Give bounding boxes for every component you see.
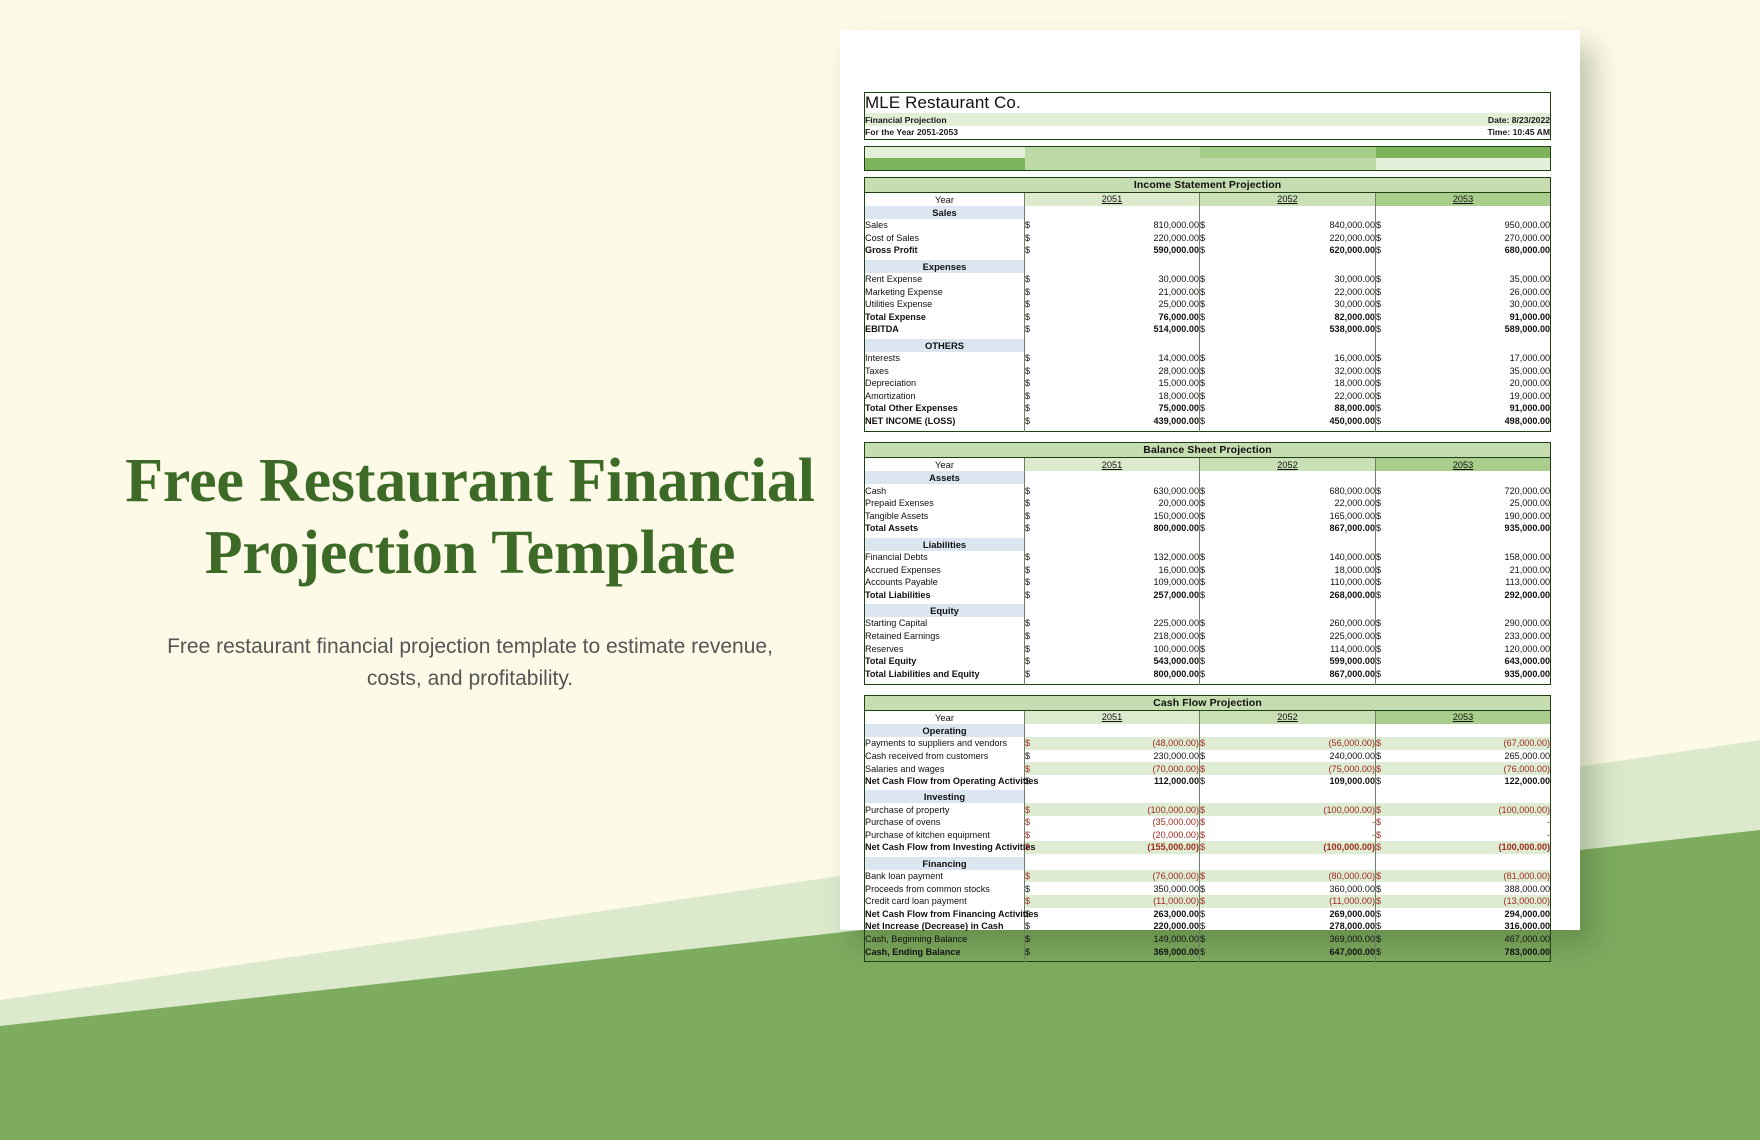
- currency-symbol: $: [1200, 882, 1218, 895]
- currency-symbol: $: [1376, 895, 1394, 908]
- year-header-row: Year205120522053: [865, 710, 1551, 724]
- row-value-2052: 165,000.00: [1218, 510, 1376, 523]
- row-value-2051: 112,000.00: [1043, 775, 1200, 788]
- row-value-2051: 149,000.00: [1043, 933, 1200, 946]
- row-label: Cash, Beginning Balance: [865, 933, 1025, 946]
- row-label: Total Other Expenses: [865, 402, 1025, 415]
- row-label: NET INCOME (LOSS): [865, 415, 1025, 428]
- currency-symbol: $: [1376, 655, 1394, 668]
- row-value-2052: 140,000.00: [1218, 551, 1376, 564]
- table-row: Taxes$28,000.00$32,000.00$35,000.00: [865, 364, 1551, 377]
- group-label-assets: Assets: [865, 471, 1025, 484]
- row-value-2052: 269,000.00: [1218, 908, 1376, 921]
- row-label: Cash: [865, 484, 1025, 497]
- row-value-2053: 21,000.00: [1394, 563, 1551, 576]
- sheet-subtitle-1: Financial Projection: [865, 113, 1200, 126]
- deco-band-row-1: [865, 146, 1551, 158]
- group-label-financing: Financing: [865, 857, 1025, 870]
- table-row: Total Equity$543,000.00$599,000.00$643,0…: [865, 655, 1551, 668]
- row-label: Total Assets: [865, 522, 1025, 535]
- currency-symbol: $: [1200, 273, 1218, 286]
- row-label: Taxes: [865, 364, 1025, 377]
- row-label: Total Liabilities and Equity: [865, 667, 1025, 680]
- currency-symbol: $: [1376, 484, 1394, 497]
- cash-flow-title: Cash Flow Projection: [865, 695, 1551, 710]
- group-band-blank: [1376, 206, 1551, 219]
- currency-symbol: $: [1200, 895, 1218, 908]
- row-label: Purchase of ovens: [865, 816, 1025, 829]
- row-value-2051: 14,000.00: [1043, 352, 1200, 365]
- currency-symbol: $: [1376, 244, 1394, 257]
- currency-symbol: $: [1200, 352, 1218, 365]
- row-value-2051: 810,000.00: [1043, 219, 1200, 232]
- currency-symbol: $: [1200, 762, 1218, 775]
- year-col-2053: 2053: [1376, 710, 1551, 724]
- row-value-2053: 113,000.00: [1394, 576, 1551, 589]
- currency-symbol: $: [1376, 945, 1394, 958]
- year-header-row: Year205120522053: [865, 457, 1551, 471]
- currency-symbol: $: [1376, 364, 1394, 377]
- currency-symbol: $: [1200, 667, 1218, 680]
- currency-symbol: $: [1376, 920, 1394, 933]
- year-col-2051: 2051: [1025, 457, 1200, 471]
- row-value-2051: (11,000.00): [1043, 895, 1200, 908]
- row-value-2053: 91,000.00: [1394, 402, 1551, 415]
- currency-symbol: $: [1200, 285, 1218, 298]
- row-label: Net Cash Flow from Investing Activities: [865, 841, 1025, 854]
- table-row: Salaries and wages$(70,000.00)$(75,000.0…: [865, 762, 1551, 775]
- row-value-2053: 720,000.00: [1394, 484, 1551, 497]
- currency-symbol: $: [1025, 522, 1043, 535]
- currency-symbol: $: [1376, 415, 1394, 428]
- table-row: Prepaid Exenses$20,000.00$22,000.00$25,0…: [865, 497, 1551, 510]
- currency-symbol: $: [1200, 775, 1218, 788]
- row-value-2053: 935,000.00: [1394, 667, 1551, 680]
- row-value-2051: 16,000.00: [1043, 563, 1200, 576]
- deco-cell: [865, 158, 1025, 170]
- table-row: Utilities Expense$25,000.00$30,000.00$30…: [865, 298, 1551, 311]
- currency-symbol: $: [1200, 364, 1218, 377]
- currency-symbol: $: [1025, 364, 1043, 377]
- row-value-2053: 316,000.00: [1394, 920, 1551, 933]
- row-value-2051: 800,000.00: [1043, 667, 1200, 680]
- currency-symbol: $: [1025, 816, 1043, 829]
- currency-symbol: $: [1200, 945, 1218, 958]
- row-value-2051: 369,000.00: [1043, 945, 1200, 958]
- row-value-2052: 110,000.00: [1218, 576, 1376, 589]
- currency-symbol: $: [1376, 273, 1394, 286]
- table-bottom-pad: [865, 680, 1551, 684]
- group-band-blank: [1025, 260, 1200, 273]
- currency-symbol: $: [1376, 377, 1394, 390]
- row-value-2053: (100,000.00): [1394, 841, 1551, 854]
- currency-symbol: $: [1025, 497, 1043, 510]
- row-value-2052: 240,000.00: [1218, 750, 1376, 763]
- table-row: NET INCOME (LOSS)$439,000.00$450,000.00$…: [865, 415, 1551, 428]
- decorative-color-bands: [864, 146, 1551, 171]
- group-label-equity: Equity: [865, 604, 1025, 617]
- group-band-blank: [1025, 604, 1200, 617]
- company-name: MLE Restaurant Co.: [865, 93, 1551, 114]
- currency-symbol: $: [1025, 285, 1043, 298]
- currency-symbol: $: [1376, 576, 1394, 589]
- currency-symbol: $: [1025, 750, 1043, 763]
- row-label: Gross Profit: [865, 244, 1025, 257]
- spacer-cell: [1025, 958, 1200, 962]
- currency-symbol: $: [1376, 298, 1394, 311]
- table-row: Gross Profit$590,000.00$620,000.00$680,0…: [865, 244, 1551, 257]
- currency-symbol: $: [1025, 762, 1043, 775]
- row-value-2053: (81,000.00): [1394, 870, 1551, 883]
- currency-symbol: $: [1200, 551, 1218, 564]
- table-row: Credit card loan payment$(11,000.00)$(11…: [865, 895, 1551, 908]
- currency-symbol: $: [1025, 882, 1043, 895]
- deco-cell: [1376, 158, 1551, 170]
- row-value-2053: 20,000.00: [1394, 377, 1551, 390]
- table-row: Reserves$100,000.00$114,000.00$120,000.0…: [865, 642, 1551, 655]
- row-value-2053: (76,000.00): [1394, 762, 1551, 775]
- row-label: Accounts Payable: [865, 576, 1025, 589]
- table-row: Retained Earnings$218,000.00$225,000.00$…: [865, 630, 1551, 643]
- deco-cell: [1025, 158, 1200, 170]
- group-band-row: Financing: [865, 857, 1551, 870]
- spacer-cell: [1376, 958, 1551, 962]
- table-row: Net Cash Flow from Investing Activities$…: [865, 841, 1551, 854]
- table-row: Bank loan payment$(76,000.00)$(80,000.00…: [865, 870, 1551, 883]
- currency-symbol: $: [1200, 244, 1218, 257]
- group-band-blank: [1200, 538, 1376, 551]
- row-value-2051: (100,000.00): [1043, 803, 1200, 816]
- table-row: Cash, Beginning Balance$149,000.00$369,0…: [865, 933, 1551, 946]
- spreadsheet-paper: MLE Restaurant Co. Financial Projection …: [840, 30, 1580, 930]
- group-band-row: Operating: [865, 724, 1551, 737]
- currency-symbol: $: [1376, 775, 1394, 788]
- row-value-2052: 260,000.00: [1218, 617, 1376, 630]
- group-band-blank: [1376, 260, 1551, 273]
- row-value-2053: 26,000.00: [1394, 285, 1551, 298]
- currency-symbol: $: [1376, 563, 1394, 576]
- group-band-row: Equity: [865, 604, 1551, 617]
- currency-symbol: $: [1025, 415, 1043, 428]
- table-row: Purchase of ovens$(35,000.00)$-$-: [865, 816, 1551, 829]
- row-value-2052: 82,000.00: [1218, 311, 1376, 324]
- group-band-blank: [1200, 857, 1376, 870]
- currency-symbol: $: [1025, 642, 1043, 655]
- row-value-2051: 76,000.00: [1043, 311, 1200, 324]
- row-value-2051: 150,000.00: [1043, 510, 1200, 523]
- row-label: Tangible Assets: [865, 510, 1025, 523]
- row-value-2053: 388,000.00: [1394, 882, 1551, 895]
- currency-symbol: $: [1025, 829, 1043, 842]
- row-value-2051: 21,000.00: [1043, 285, 1200, 298]
- row-value-2052: (11,000.00): [1218, 895, 1376, 908]
- row-value-2051: 109,000.00: [1043, 576, 1200, 589]
- row-label: Accrued Expenses: [865, 563, 1025, 576]
- table-row: Accrued Expenses$16,000.00$18,000.00$21,…: [865, 563, 1551, 576]
- currency-symbol: $: [1200, 415, 1218, 428]
- currency-symbol: $: [1376, 642, 1394, 655]
- row-value-2053: 158,000.00: [1394, 551, 1551, 564]
- row-value-2052: 680,000.00: [1218, 484, 1376, 497]
- balance-sheet-table: Balance Sheet ProjectionYear205120522053…: [864, 442, 1551, 685]
- row-value-2052: 599,000.00: [1218, 655, 1376, 668]
- table-row: Payments to suppliers and vendors$(48,00…: [865, 737, 1551, 750]
- row-value-2053: 35,000.00: [1394, 364, 1551, 377]
- row-value-2052: 278,000.00: [1218, 920, 1376, 933]
- row-value-2051: 220,000.00: [1043, 232, 1200, 245]
- row-value-2051: 257,000.00: [1043, 588, 1200, 601]
- table-row: Purchase of property$(100,000.00)$(100,0…: [865, 803, 1551, 816]
- sheet-time: Time: 10:45 AM: [1200, 126, 1551, 139]
- group-label-expenses: Expenses: [865, 260, 1025, 273]
- group-band-blank: [1200, 604, 1376, 617]
- row-value-2051: (35,000.00): [1043, 816, 1200, 829]
- row-value-2052: 220,000.00: [1218, 232, 1376, 245]
- row-label: Utilities Expense: [865, 298, 1025, 311]
- row-value-2051: 543,000.00: [1043, 655, 1200, 668]
- row-value-2053: 120,000.00: [1394, 642, 1551, 655]
- group-band-blank: [1200, 471, 1376, 484]
- row-value-2053: 643,000.00: [1394, 655, 1551, 668]
- currency-symbol: $: [1025, 219, 1043, 232]
- table-row: EBITDA$514,000.00$538,000.00$589,000.00: [865, 323, 1551, 336]
- row-label: Prepaid Exenses: [865, 497, 1025, 510]
- table-row: Proceeds from common stocks$350,000.00$3…: [865, 882, 1551, 895]
- row-label: Depreciation: [865, 377, 1025, 390]
- currency-symbol: $: [1025, 298, 1043, 311]
- currency-symbol: $: [1200, 563, 1218, 576]
- row-value-2052: 360,000.00: [1218, 882, 1376, 895]
- group-band-blank: [1025, 790, 1200, 803]
- row-value-2053: 190,000.00: [1394, 510, 1551, 523]
- group-band-blank: [1376, 339, 1551, 352]
- table-bottom-pad: [865, 958, 1551, 962]
- currency-symbol: $: [1376, 510, 1394, 523]
- year-col-2051: 2051: [1025, 710, 1200, 724]
- cash-flow-table: Cash Flow ProjectionYear205120522053Oper…: [864, 695, 1551, 963]
- spacer-cell: [1376, 427, 1551, 431]
- currency-symbol: $: [1376, 497, 1394, 510]
- currency-symbol: $: [1200, 920, 1218, 933]
- row-value-2051: (20,000.00): [1043, 829, 1200, 842]
- currency-symbol: $: [1025, 895, 1043, 908]
- year-col-2052: 2052: [1200, 457, 1376, 471]
- row-label: Starting Capital: [865, 617, 1025, 630]
- group-band-blank: [1025, 724, 1200, 737]
- row-value-2052: 88,000.00: [1218, 402, 1376, 415]
- currency-symbol: $: [1200, 617, 1218, 630]
- year-col-2053: 2053: [1376, 457, 1551, 471]
- table-row: Net Increase (Decrease) in Cash$220,000.…: [865, 920, 1551, 933]
- row-value-2053: 294,000.00: [1394, 908, 1551, 921]
- row-value-2053: 19,000.00: [1394, 390, 1551, 403]
- currency-symbol: $: [1376, 750, 1394, 763]
- row-value-2051: 30,000.00: [1043, 273, 1200, 286]
- currency-symbol: $: [1376, 667, 1394, 680]
- row-value-2051: 800,000.00: [1043, 522, 1200, 535]
- row-value-2051: 20,000.00: [1043, 497, 1200, 510]
- currency-symbol: $: [1376, 841, 1394, 854]
- row-value-2051: 218,000.00: [1043, 630, 1200, 643]
- row-value-2052: 647,000.00: [1218, 945, 1376, 958]
- currency-symbol: $: [1200, 803, 1218, 816]
- row-value-2053: 270,000.00: [1394, 232, 1551, 245]
- row-value-2052: 30,000.00: [1218, 298, 1376, 311]
- currency-symbol: $: [1025, 655, 1043, 668]
- currency-symbol: $: [1376, 630, 1394, 643]
- currency-symbol: $: [1200, 390, 1218, 403]
- table-row: Depreciation$15,000.00$18,000.00$20,000.…: [865, 377, 1551, 390]
- currency-symbol: $: [1376, 870, 1394, 883]
- row-label: Credit card loan payment: [865, 895, 1025, 908]
- row-label: Total Liabilities: [865, 588, 1025, 601]
- currency-symbol: $: [1025, 933, 1043, 946]
- row-label: Interests: [865, 352, 1025, 365]
- table-row: Accounts Payable$109,000.00$110,000.00$1…: [865, 576, 1551, 589]
- row-value-2052: 22,000.00: [1218, 497, 1376, 510]
- row-value-2052: 30,000.00: [1218, 273, 1376, 286]
- currency-symbol: $: [1200, 816, 1218, 829]
- currency-symbol: $: [1376, 522, 1394, 535]
- row-label: Net Increase (Decrease) in Cash: [865, 920, 1025, 933]
- row-value-2051: 350,000.00: [1043, 882, 1200, 895]
- row-value-2052: (100,000.00): [1218, 803, 1376, 816]
- row-value-2052: 114,000.00: [1218, 642, 1376, 655]
- group-band-blank: [1200, 790, 1376, 803]
- group-band-blank: [1376, 471, 1551, 484]
- table-row: Cost of Sales$220,000.00$220,000.00$270,…: [865, 232, 1551, 245]
- row-value-2052: 18,000.00: [1218, 377, 1376, 390]
- table-row: Interests$14,000.00$16,000.00$17,000.00: [865, 352, 1551, 365]
- currency-symbol: $: [1200, 377, 1218, 390]
- row-value-2052: 32,000.00: [1218, 364, 1376, 377]
- year-label: Year: [865, 710, 1025, 724]
- row-value-2051: 75,000.00: [1043, 402, 1200, 415]
- row-label: Bank loan payment: [865, 870, 1025, 883]
- currency-symbol: $: [1025, 232, 1043, 245]
- year-col-2051: 2051: [1025, 192, 1200, 206]
- group-band-blank: [1025, 538, 1200, 551]
- row-value-2053: 935,000.00: [1394, 522, 1551, 535]
- row-value-2052: -: [1218, 816, 1376, 829]
- row-value-2053: 17,000.00: [1394, 352, 1551, 365]
- currency-symbol: $: [1200, 219, 1218, 232]
- currency-symbol: $: [1376, 352, 1394, 365]
- group-band-blank: [1200, 724, 1376, 737]
- spacer-cell: [1200, 427, 1376, 431]
- currency-symbol: $: [1200, 323, 1218, 336]
- currency-symbol: $: [1200, 402, 1218, 415]
- row-label: Cash, Ending Balance: [865, 945, 1025, 958]
- year-label: Year: [865, 192, 1025, 206]
- currency-symbol: $: [1200, 750, 1218, 763]
- row-value-2051: 15,000.00: [1043, 377, 1200, 390]
- currency-symbol: $: [1200, 510, 1218, 523]
- currency-symbol: $: [1025, 551, 1043, 564]
- row-value-2053: (13,000.00): [1394, 895, 1551, 908]
- currency-symbol: $: [1025, 484, 1043, 497]
- currency-symbol: $: [1200, 484, 1218, 497]
- table-row: Total Other Expenses$75,000.00$88,000.00…: [865, 402, 1551, 415]
- row-value-2052: 268,000.00: [1218, 588, 1376, 601]
- row-value-2052: 450,000.00: [1218, 415, 1376, 428]
- row-label: Amortization: [865, 390, 1025, 403]
- row-value-2052: 867,000.00: [1218, 522, 1376, 535]
- row-value-2052: 22,000.00: [1218, 390, 1376, 403]
- currency-symbol: $: [1025, 617, 1043, 630]
- row-value-2053: 292,000.00: [1394, 588, 1551, 601]
- currency-symbol: $: [1200, 642, 1218, 655]
- group-label-investing: Investing: [865, 790, 1025, 803]
- currency-symbol: $: [1200, 829, 1218, 842]
- table-row: Total Assets$800,000.00$867,000.00$935,0…: [865, 522, 1551, 535]
- year-col-2053: 2053: [1376, 192, 1551, 206]
- currency-symbol: $: [1200, 298, 1218, 311]
- row-value-2052: 18,000.00: [1218, 563, 1376, 576]
- row-value-2053: 290,000.00: [1394, 617, 1551, 630]
- row-value-2053: 589,000.00: [1394, 323, 1551, 336]
- group-band-row: OTHERS: [865, 339, 1551, 352]
- currency-symbol: $: [1025, 323, 1043, 336]
- year-col-2052: 2052: [1200, 192, 1376, 206]
- spacer: [864, 685, 1550, 695]
- currency-symbol: $: [1376, 311, 1394, 324]
- row-value-2052: (100,000.00): [1218, 841, 1376, 854]
- row-label: Proceeds from common stocks: [865, 882, 1025, 895]
- table-row: Sales$810,000.00$840,000.00$950,000.00: [865, 219, 1551, 232]
- row-value-2051: (76,000.00): [1043, 870, 1200, 883]
- currency-symbol: $: [1376, 551, 1394, 564]
- currency-symbol: $: [1200, 588, 1218, 601]
- row-value-2052: (56,000.00): [1218, 737, 1376, 750]
- spreadsheet-sheet: MLE Restaurant Co. Financial Projection …: [864, 92, 1550, 962]
- row-value-2053: -: [1394, 829, 1551, 842]
- group-band-row: Liabilities: [865, 538, 1551, 551]
- group-band-row: Assets: [865, 471, 1551, 484]
- year-header-row: Year205120522053: [865, 192, 1551, 206]
- currency-symbol: $: [1025, 667, 1043, 680]
- row-value-2051: 25,000.00: [1043, 298, 1200, 311]
- group-label-others: OTHERS: [865, 339, 1025, 352]
- row-value-2051: (70,000.00): [1043, 762, 1200, 775]
- sheet-header-block: MLE Restaurant Co. Financial Projection …: [864, 92, 1551, 140]
- currency-symbol: $: [1200, 232, 1218, 245]
- sheet-date: Date: 8/23/2022: [1200, 113, 1551, 126]
- group-band-blank: [1376, 857, 1551, 870]
- spacer-cell: [865, 680, 1025, 684]
- row-value-2053: 498,000.00: [1394, 415, 1551, 428]
- row-value-2052: 109,000.00: [1218, 775, 1376, 788]
- group-band-blank: [1376, 724, 1551, 737]
- currency-symbol: $: [1376, 816, 1394, 829]
- row-value-2051: 225,000.00: [1043, 617, 1200, 630]
- row-label: EBITDA: [865, 323, 1025, 336]
- group-band-blank: [1200, 339, 1376, 352]
- year-col-2052: 2052: [1200, 710, 1376, 724]
- row-value-2051: 18,000.00: [1043, 390, 1200, 403]
- income-statement-table: Income Statement ProjectionYear205120522…: [864, 177, 1551, 432]
- table-row: Cash$630,000.00$680,000.00$720,000.00: [865, 484, 1551, 497]
- row-value-2051: (155,000.00): [1043, 841, 1200, 854]
- currency-symbol: $: [1025, 244, 1043, 257]
- currency-symbol: $: [1200, 630, 1218, 643]
- deco-cell: [1376, 146, 1551, 158]
- row-label: Purchase of kitchen equipment: [865, 829, 1025, 842]
- group-band-blank: [1376, 790, 1551, 803]
- group-band-blank: [1025, 471, 1200, 484]
- row-label: Sales: [865, 219, 1025, 232]
- row-value-2053: 265,000.00: [1394, 750, 1551, 763]
